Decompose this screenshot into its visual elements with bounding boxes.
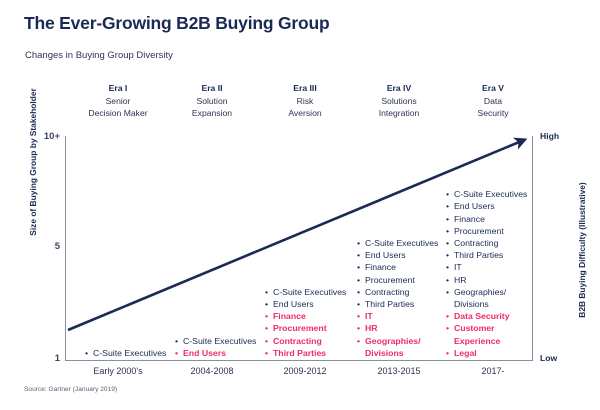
right-axis-label-low: Low (540, 353, 557, 363)
y-axis-title: Size of Buying Group by Stakeholder (28, 57, 38, 267)
stakeholder-item: Data Security (446, 310, 542, 322)
page-title: The Ever-Growing B2B Buying Group (24, 13, 330, 34)
era-subtitle-line2: Security (438, 107, 548, 120)
stakeholder-list-era-2: C-Suite ExecutivesEnd Users (175, 335, 271, 359)
stakeholder-item: End Users (357, 249, 453, 261)
stakeholder-item: C-Suite Executives (357, 237, 453, 249)
stakeholder-item: Geographies/ Divisions (446, 286, 542, 310)
stakeholder-list-era-4: C-Suite ExecutivesEnd UsersFinanceProcur… (357, 237, 453, 359)
stakeholder-list-era-1: C-Suite Executives (85, 347, 181, 359)
stakeholder-item: Procurement (446, 225, 542, 237)
stakeholder-item: C-Suite Executives (175, 335, 271, 347)
right-axis-label-high: High (540, 131, 559, 141)
stakeholder-item: Finance (446, 213, 542, 225)
page-subtitle: Changes in Buying Group Diversity (25, 50, 173, 61)
stakeholder-item: Contracting (357, 286, 453, 298)
stakeholder-item: Contracting (265, 335, 361, 347)
stakeholder-item: Customer Experience (446, 322, 542, 346)
stakeholder-item: Legal (446, 347, 542, 359)
stakeholder-item: Geographies/ Divisions (357, 335, 453, 359)
stakeholder-item: Finance (265, 310, 361, 322)
y-axis-tick-mid: 5 (20, 241, 60, 252)
y-axis-tick-top: 10+ (20, 131, 60, 142)
stakeholder-item: End Users (446, 200, 542, 212)
stakeholder-item: Third Parties (446, 249, 542, 261)
stakeholder-item: C-Suite Executives (446, 188, 542, 200)
stakeholder-item: Procurement (265, 322, 361, 334)
stakeholder-item: Procurement (357, 274, 453, 286)
y-axis-tick-bottom: 1 (20, 353, 60, 364)
stakeholder-item: End Users (175, 347, 271, 359)
era-subtitle-line1: Data (438, 95, 548, 108)
x-axis-label-row: Early 2000's2004-20082009-20122013-20152… (65, 366, 533, 382)
stakeholder-list-era-3: C-Suite ExecutivesEnd UsersFinanceProcur… (265, 286, 361, 359)
x-axis-period-label-5: 2017- (438, 366, 548, 376)
stakeholder-item: C-Suite Executives (85, 347, 181, 359)
source-note: Source: Gartner (January 2019) (24, 386, 117, 393)
stakeholder-item: Contracting (446, 237, 542, 249)
stakeholder-item: C-Suite Executives (265, 286, 361, 298)
stakeholder-item: IT (357, 310, 453, 322)
stakeholder-item: HR (357, 322, 453, 334)
stakeholder-item: Finance (357, 261, 453, 273)
stakeholder-item: IT (446, 261, 542, 273)
stakeholder-item: Third Parties (265, 347, 361, 359)
era-header-5: Era VDataSecurity (438, 82, 548, 120)
right-axis-title: B2B Buying Difficulty (Illustrative) (577, 150, 587, 350)
era-header-row: Era ISeniorDecision MakerEra IISolutionE… (65, 82, 533, 126)
stakeholder-item: Third Parties (357, 298, 453, 310)
stakeholder-item: End Users (265, 298, 361, 310)
stakeholder-item: HR (446, 274, 542, 286)
stakeholder-list-era-5: C-Suite ExecutivesEnd UsersFinanceProcur… (446, 188, 542, 359)
era-roman-label: Era V (438, 82, 548, 95)
